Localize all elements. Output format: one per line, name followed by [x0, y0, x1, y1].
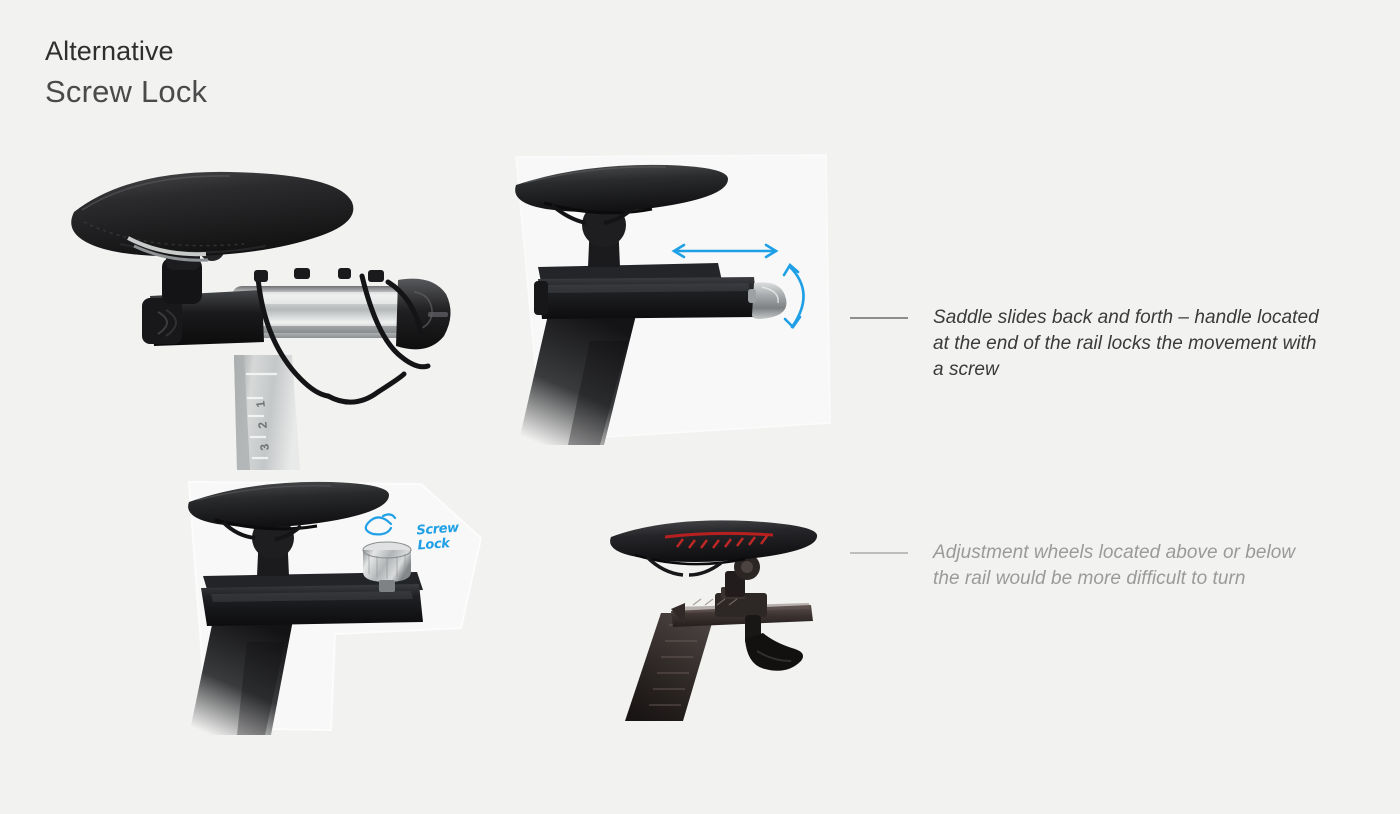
- slide-canvas: Alternative Screw Lock: [0, 0, 1400, 814]
- figure-sketch-screw-knob: [185, 480, 505, 735]
- callout-leader-line: [850, 317, 908, 319]
- photo1-scale-post: 1 2 3: [234, 355, 300, 470]
- callout-slide-text: Saddle slides back and forth – handle lo…: [933, 305, 1323, 383]
- photo1-clamp-tube: [142, 290, 264, 346]
- callout-slide: Saddle slides back and forth – handle lo…: [850, 305, 1323, 383]
- photo2-lever-handle: [745, 615, 803, 671]
- figure-photo-reference-saddle: 1 2 3: [62, 160, 482, 470]
- title-eyebrow: Alternative: [45, 38, 207, 65]
- figure-photo-reference-lever: [605, 515, 860, 725]
- callout-wheels: Adjustment wheels located above or below…: [850, 540, 1323, 592]
- callout-wheels-text: Adjustment wheels located above or below…: [933, 540, 1323, 592]
- photo1-saddle: [71, 172, 353, 260]
- figure-sketch-slide-lock: [508, 155, 838, 445]
- callout-leader-line: [850, 552, 908, 554]
- photo2-saddle: [610, 520, 817, 575]
- handwritten-screw-lock-label: Screw Lock: [416, 521, 460, 554]
- photo1-end-cap: [396, 279, 451, 350]
- title-main: Screw Lock: [45, 76, 207, 107]
- page-title: Alternative Screw Lock: [45, 38, 207, 107]
